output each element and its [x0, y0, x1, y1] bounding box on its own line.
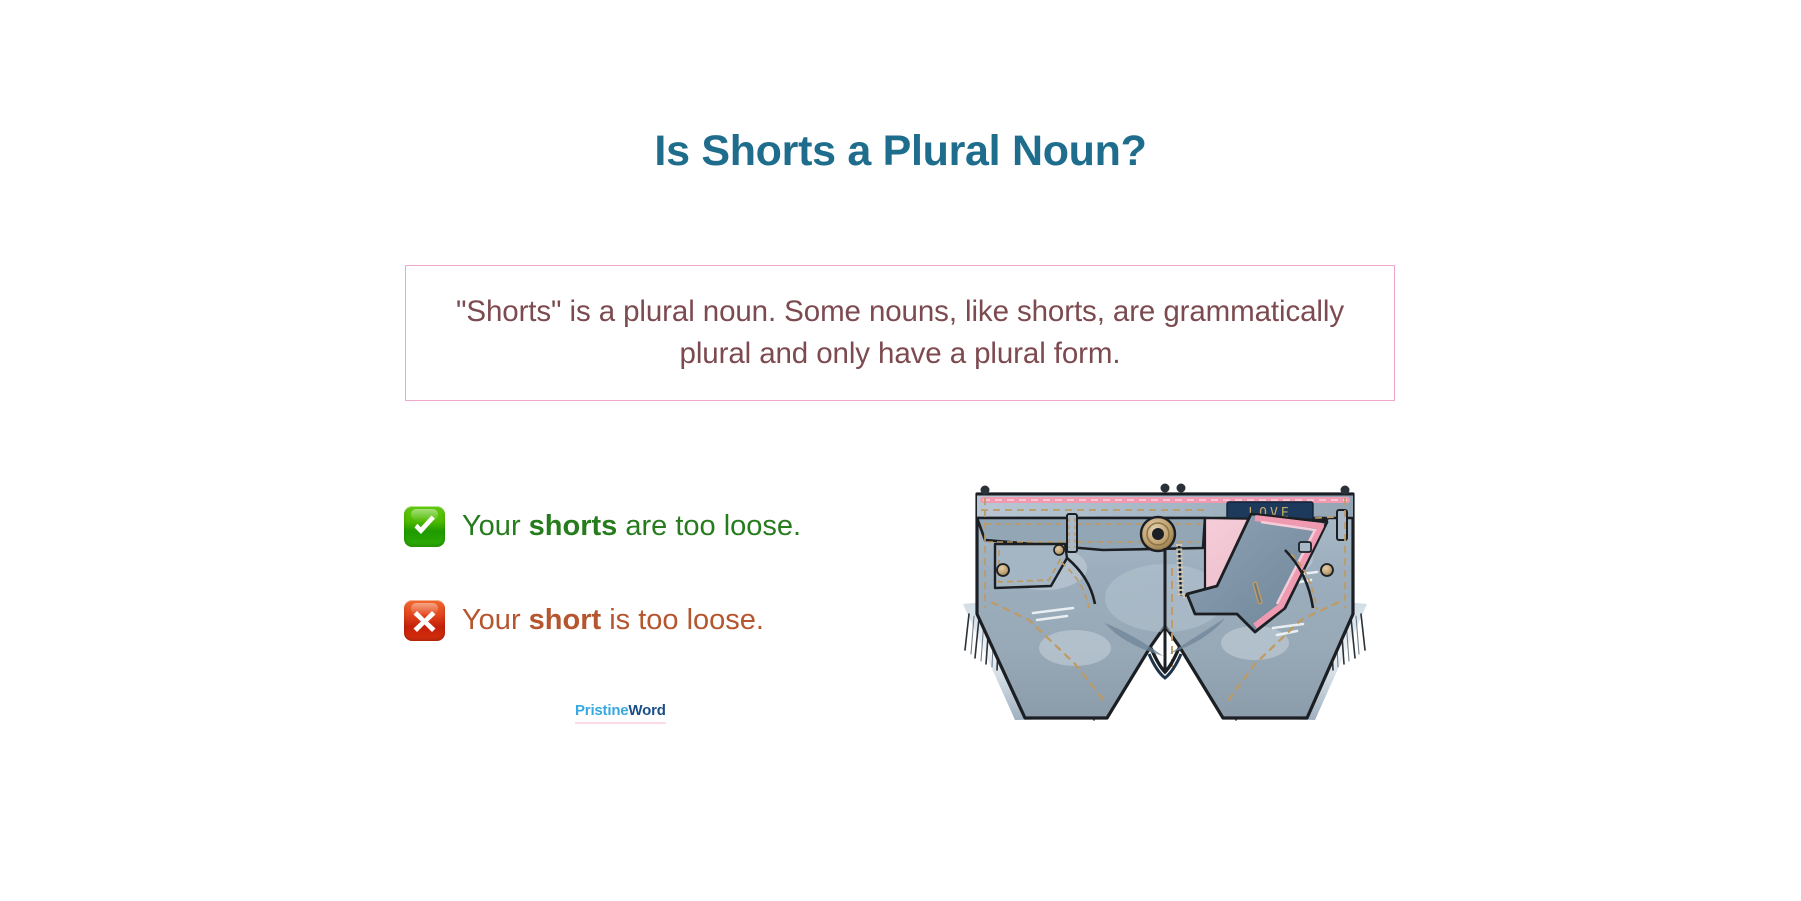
denim-shorts-illustration: LOVE: [955, 418, 1405, 738]
list-item: Your shorts are too loose.: [404, 498, 1044, 554]
page-title: Is Shorts a Plural Noun?: [0, 128, 1801, 175]
example-suffix: is too loose.: [601, 604, 764, 636]
example-sentence-incorrect: Your short is too loose.: [462, 603, 764, 638]
definition-callout-box: "Shorts" is a plural noun. Some nouns, l…: [405, 265, 1395, 401]
list-item: Your short is too loose.: [404, 592, 1044, 648]
definition-text: "Shorts" is a plural noun. Some nouns, l…: [406, 291, 1394, 375]
site-logo[interactable]: PristineWord: [575, 702, 666, 724]
examples-list: Your shorts are too loose. Your short is…: [404, 498, 1044, 686]
cross-mark-button-icon: [404, 600, 445, 641]
logo-text-primary: Pristine: [575, 702, 628, 719]
example-highlight: shorts: [529, 510, 618, 542]
example-suffix: are too loose.: [617, 510, 801, 542]
white-heavy-check-mark-icon: [404, 506, 445, 547]
example-prefix: Your: [462, 510, 529, 542]
metal-button: [1141, 517, 1175, 551]
example-prefix: Your: [462, 604, 529, 636]
example-sentence-correct: Your shorts are too loose.: [462, 509, 801, 544]
example-highlight: short: [529, 604, 602, 636]
logo-text-secondary: Word: [628, 702, 665, 719]
